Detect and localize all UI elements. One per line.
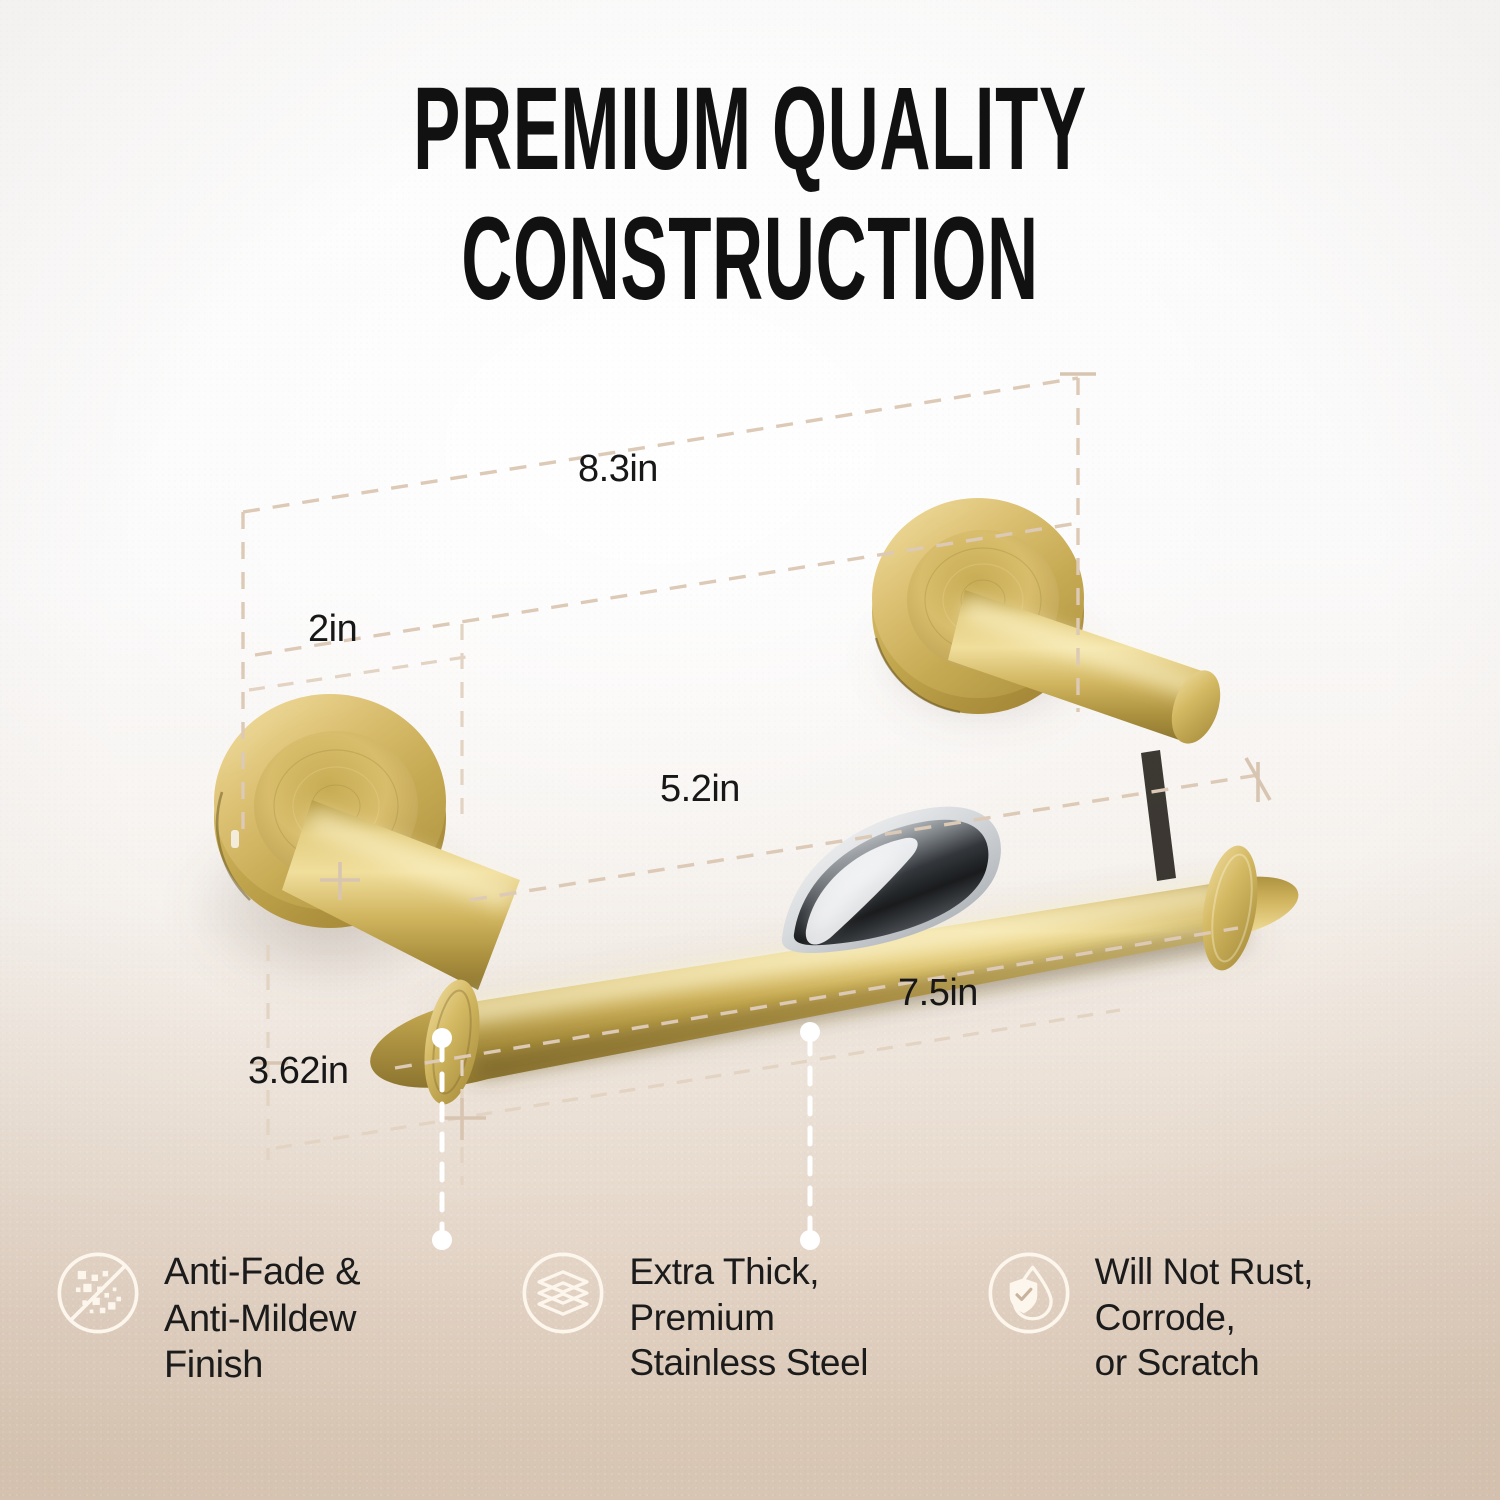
- feature-text-anti-fade: Anti-Fade & Anti-Mildew Finish: [164, 1245, 360, 1389]
- feature-item-anti-fade[interactable]: Anti-Fade & Anti-Mildew Finish: [52, 1245, 517, 1389]
- page-title: PREMIUM QUALITY CONSTRUCTION: [0, 72, 1500, 317]
- dimension-label-8in: 8.3in: [578, 448, 658, 491]
- feature-item-no-rust[interactable]: Will Not Rust, Corrode, or Scratch: [983, 1245, 1448, 1389]
- headline-line-2: CONSTRUCTION: [300, 202, 1200, 318]
- feature-line-3: Finish: [164, 1342, 360, 1389]
- feature-line-3: Stainless Steel: [629, 1340, 868, 1386]
- feature-list: Anti-Fade & Anti-Mildew Finish Extra Thi…: [0, 1245, 1500, 1389]
- feature-text-extra-thick: Extra Thick, Premium Stainless Steel: [629, 1245, 868, 1386]
- dimension-label-2in: 2in: [308, 608, 357, 651]
- dimension-label-5in: 5.2in: [660, 768, 740, 811]
- water-shield-icon: [983, 1247, 1075, 1339]
- feature-line-1: Extra Thick,: [629, 1249, 868, 1295]
- feature-line-1: Anti-Fade &: [164, 1249, 360, 1296]
- feature-line-2: Corrode,: [1095, 1295, 1313, 1341]
- feature-item-extra-thick[interactable]: Extra Thick, Premium Stainless Steel: [517, 1245, 982, 1389]
- dimension-label-7in: 7.5in: [898, 972, 978, 1015]
- feature-line-3: or Scratch: [1095, 1340, 1313, 1386]
- headline-line-1: PREMIUM QUALITY: [300, 72, 1200, 188]
- feature-line-2: Premium: [629, 1295, 868, 1341]
- feature-text-no-rust: Will Not Rust, Corrode, or Scratch: [1095, 1245, 1313, 1386]
- no-mildew-icon: [52, 1247, 144, 1339]
- layers-icon: [517, 1247, 609, 1339]
- feature-line-1: Will Not Rust,: [1095, 1249, 1313, 1295]
- dimension-label-362in: 3.62in: [248, 1050, 349, 1093]
- feature-line-2: Anti-Mildew: [164, 1296, 360, 1343]
